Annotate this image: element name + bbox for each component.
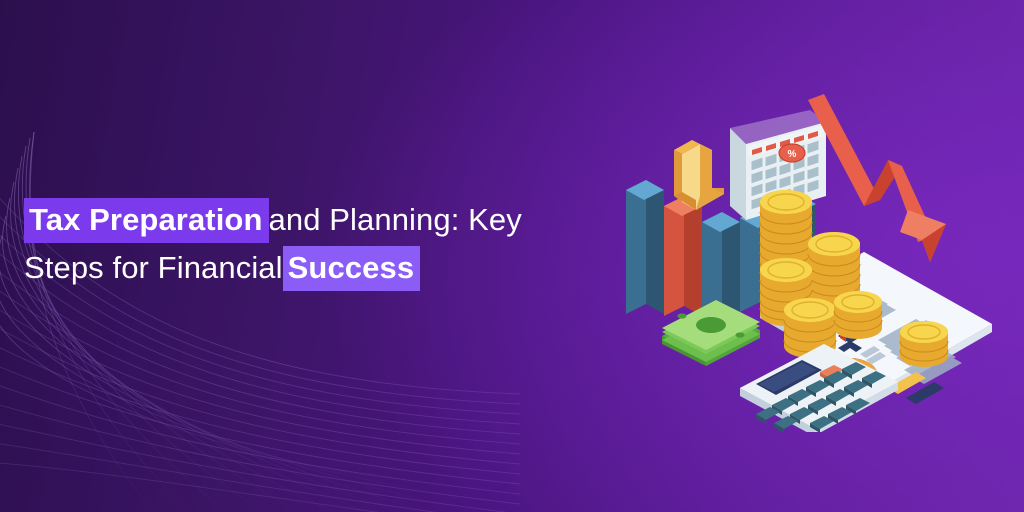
page-title: Tax Preparation and Planning: Key Steps … <box>24 196 624 291</box>
coin-stack-5 <box>834 291 882 339</box>
percent-badge-icon: % <box>779 144 805 162</box>
curved-mesh-decoration <box>0 132 520 512</box>
headline-rest-1: and Planning: Key <box>269 198 522 243</box>
coin-stack-6 <box>900 321 948 367</box>
headline-highlight-1: Tax Preparation <box>24 198 269 243</box>
headline-line-2: Steps for Financial Success <box>24 244 624 291</box>
cash-stack-icon <box>662 300 760 366</box>
bar-2 <box>664 196 702 316</box>
bar-1 <box>626 180 664 314</box>
banner: Tax Preparation and Planning: Key Steps … <box>0 0 1024 512</box>
tax-finance-isometric-illustration: % <box>612 92 1012 432</box>
headline-rest-2: Steps for Financial <box>24 246 283 291</box>
down-arrow-yellow-icon <box>674 140 724 210</box>
headline-highlight-2: Success <box>283 246 421 291</box>
svg-text:%: % <box>788 149 797 160</box>
headline-line-1: Tax Preparation and Planning: Key <box>24 196 624 243</box>
bar-3 <box>702 212 740 318</box>
